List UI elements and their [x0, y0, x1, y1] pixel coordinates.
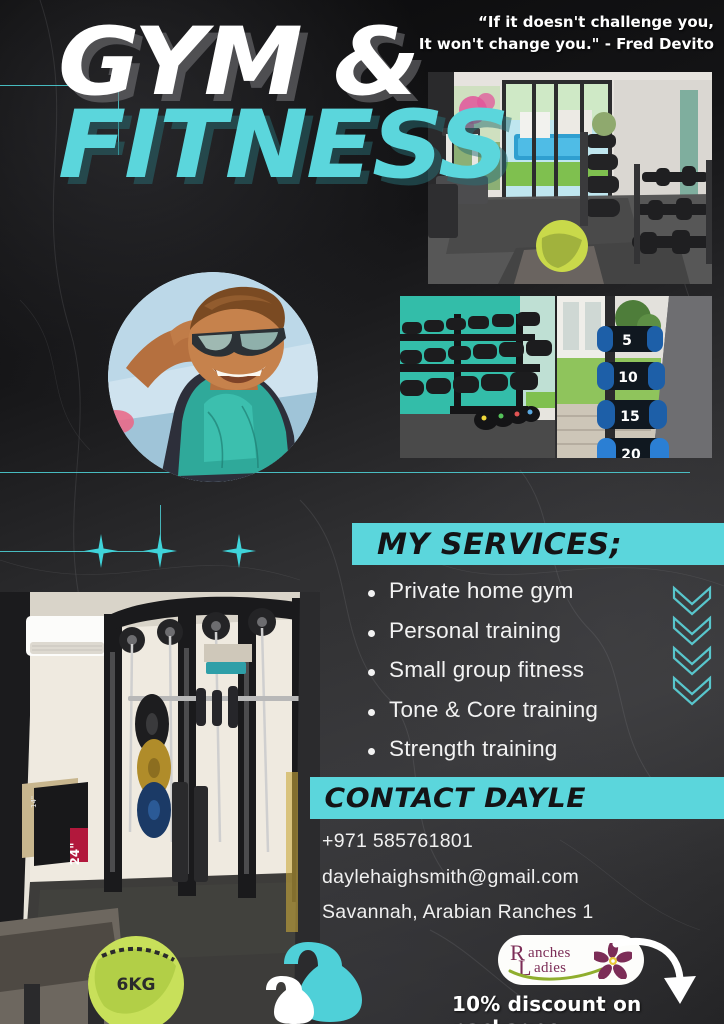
bullet-icon	[368, 630, 375, 637]
bullet-icon	[368, 669, 375, 676]
list-item: Small group fitness	[368, 659, 668, 682]
chevron-down-decoration	[668, 584, 716, 714]
photo-athlete-portrait	[108, 272, 318, 482]
bullet-icon	[368, 590, 375, 597]
service-label: Tone & Core training	[389, 699, 598, 722]
photo-dumbbell-rack	[400, 296, 555, 458]
quote-line-2: It won't change you." - Fred Devito	[419, 34, 714, 56]
poster-canvas: “If it doesn't challenge you, It won't c…	[0, 0, 724, 1024]
contact-banner: CONTACT DAYLE	[310, 777, 724, 819]
contact-banner-label: CONTACT DAYLE	[310, 783, 586, 814]
services-banner: MY SERVICES;	[352, 523, 724, 565]
service-label: Personal training	[389, 620, 561, 643]
svg-text:14": 14"	[30, 796, 38, 808]
service-label: Small group fitness	[389, 659, 584, 682]
service-label: Strength training	[389, 738, 558, 761]
contact-details: +971 585761801 daylehaighsmith@gmail.com…	[322, 832, 594, 939]
svg-text:6KG: 6KG	[117, 975, 156, 995]
discount-text: 10% discount on packages	[452, 992, 724, 1024]
accent-rule-sparkle-row	[0, 551, 160, 552]
bullet-icon	[368, 748, 375, 755]
logo-word-ranches: anches	[528, 946, 571, 961]
list-item: Private home gym	[368, 580, 668, 603]
bullet-icon	[368, 709, 375, 716]
svg-text:24": 24"	[68, 843, 82, 866]
kettlebell-icon	[262, 936, 366, 1024]
service-label: Private home gym	[389, 580, 574, 603]
quote-block: “If it doesn't challenge you, It won't c…	[419, 12, 714, 56]
sparkle-icon	[84, 534, 118, 568]
services-list: Private home gym Personal training Small…	[368, 580, 668, 778]
list-item: Personal training	[368, 620, 668, 643]
quote-line-1: “If it doesn't challenge you,	[419, 12, 714, 34]
svg-text:5: 5	[622, 333, 632, 349]
sparkle-icon	[222, 534, 256, 568]
headline-line-2: FITNESS	[58, 107, 508, 186]
contact-email[interactable]: daylehaighsmith@gmail.com	[322, 868, 594, 888]
services-banner-label: MY SERVICES;	[352, 527, 622, 561]
svg-text:15: 15	[620, 409, 639, 425]
accent-rule-mid	[0, 472, 690, 473]
svg-text:20: 20	[621, 447, 641, 458]
logo-swoosh-icon	[508, 967, 604, 981]
svg-text:10: 10	[618, 370, 638, 386]
contact-phone[interactable]: +971 585761801	[322, 832, 594, 852]
list-item: Strength training	[368, 738, 668, 761]
sparkle-icon	[143, 534, 177, 568]
contact-address: Savannah, Arabian Ranches 1	[322, 903, 594, 923]
list-item: Tone & Core training	[368, 699, 668, 722]
photo-blue-dumbbells: 5 10 15 20	[557, 296, 712, 458]
